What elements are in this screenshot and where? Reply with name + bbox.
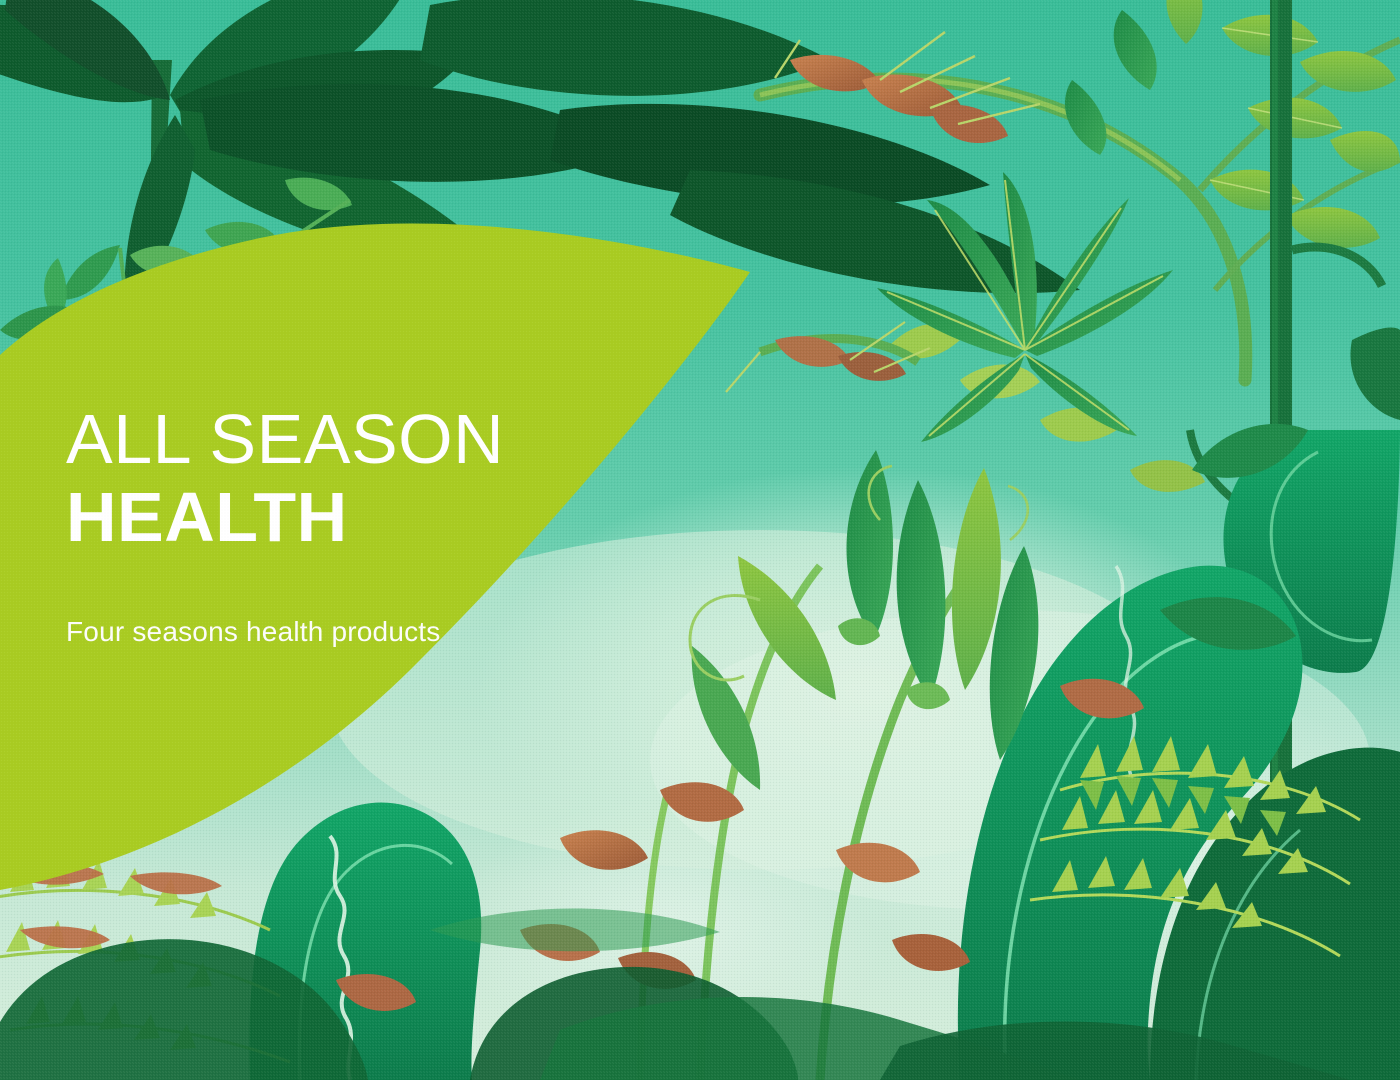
subtitle: Four seasons health products <box>66 616 586 648</box>
banner-canvas: ALL SEASON HEALTH Four seasons health pr… <box>0 0 1400 1080</box>
leaf-panel: ALL SEASON HEALTH Four seasons health pr… <box>0 0 800 960</box>
headline-block: ALL SEASON HEALTH Four seasons health pr… <box>66 404 586 648</box>
title-line-2: HEALTH <box>66 480 586 554</box>
title-line-1: ALL SEASON <box>66 404 586 474</box>
